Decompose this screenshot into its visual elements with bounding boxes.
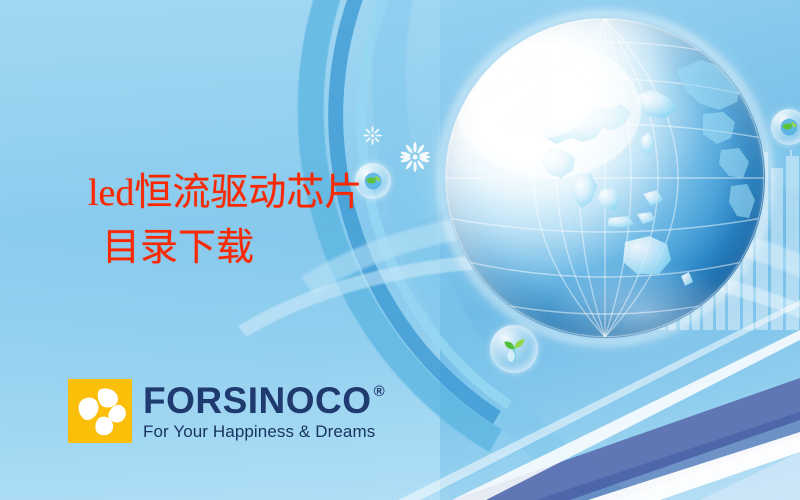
bubble-leaf [490, 325, 538, 373]
headline-block: led恒流驱动芯片 目录下载 [88, 166, 508, 275]
brand-text-block: FORSINOCO ® For Your Happiness & Dreams [143, 379, 385, 442]
brand-logo: FORSINOCO ® For Your Happiness & Dreams [68, 379, 385, 443]
leaf-sprout-icon [501, 336, 528, 363]
logo-mark [68, 379, 132, 443]
promo-banner: led恒流驱动芯片 目录下载 FORSINOCO ® For Your Happ… [0, 0, 800, 500]
brand-wordmark-text: FORSINOCO [143, 382, 372, 419]
brand-wordmark: FORSINOCO ® [143, 382, 385, 419]
sparkle-flower-icon [363, 126, 382, 145]
headline-line-1: led恒流驱动芯片 [88, 166, 508, 221]
headline-line-2: 目录下载 [88, 221, 508, 276]
mini-globe-icon [779, 117, 799, 137]
brand-tagline: For Your Happiness & Dreams [143, 422, 385, 442]
petal-flower-icon [68, 379, 132, 443]
bubble-globe-right [771, 109, 800, 145]
registered-trademark-symbol: ® [374, 384, 386, 399]
